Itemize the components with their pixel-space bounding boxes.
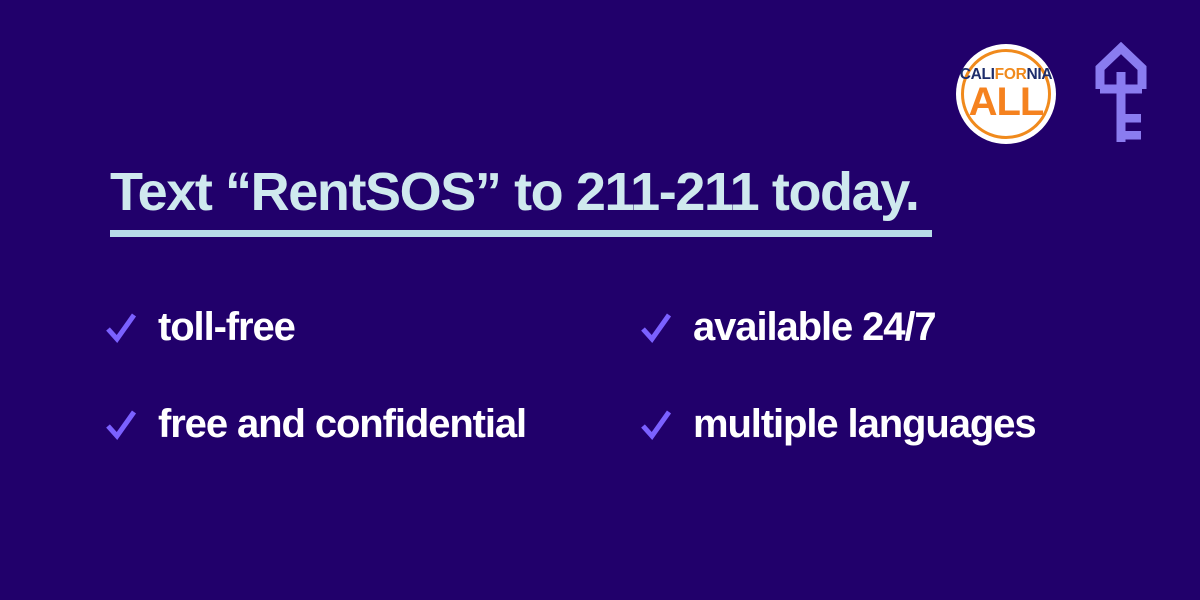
benefit-label: free and confidential (158, 402, 526, 447)
headline-block: Text “RentSOS” to 211-211 today. (110, 163, 970, 237)
list-item: toll-free (106, 305, 641, 350)
list-item: multiple languages (641, 402, 1136, 447)
rentsos-promo-poster: CALIFORNIA ALL Text “RentSOS” to 211-211… (0, 0, 1200, 600)
benefits-list: toll-free available 24/7 free and confid… (106, 305, 1136, 447)
benefit-label: toll-free (158, 305, 295, 350)
headline-underline (110, 230, 932, 237)
benefit-label: multiple languages (693, 402, 1036, 447)
check-icon (106, 408, 136, 442)
california-all-seal: CALIFORNIA ALL (956, 44, 1056, 144)
benefit-label: available 24/7 (693, 305, 936, 350)
check-icon (641, 311, 671, 345)
brand-row: CALIFORNIA ALL (956, 44, 1150, 144)
page-title: Text “RentSOS” to 211-211 today. (110, 163, 970, 221)
house-key-icon (1092, 42, 1150, 146)
list-item: free and confidential (106, 402, 641, 447)
list-item: available 24/7 (641, 305, 1136, 350)
seal-all-wordmark: ALL (960, 84, 1053, 121)
check-icon (641, 408, 671, 442)
check-icon (106, 311, 136, 345)
seal-inner: CALIFORNIA ALL (960, 67, 1053, 120)
